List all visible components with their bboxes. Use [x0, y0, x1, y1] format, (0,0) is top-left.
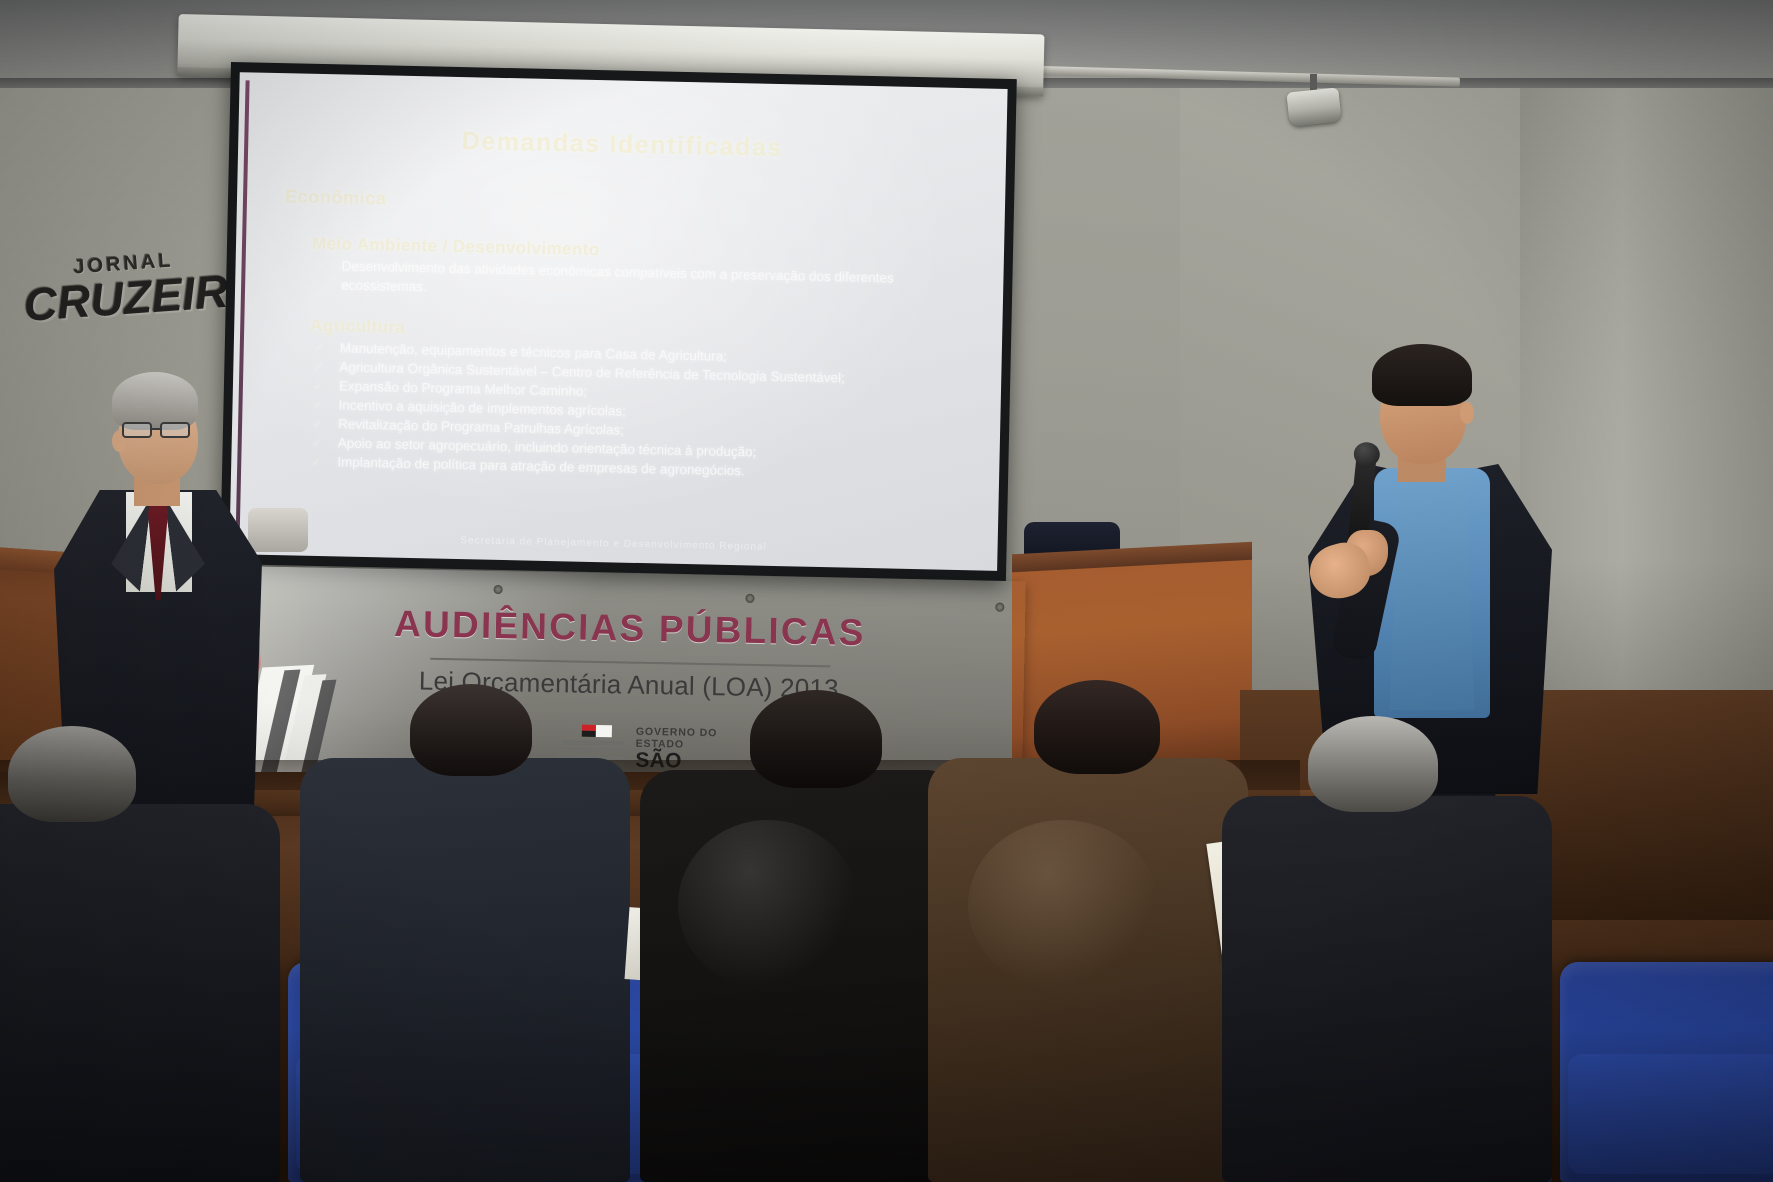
- slide-section-heading: Econômica: [285, 186, 971, 222]
- seat: [1560, 962, 1773, 1182]
- audience-member: [1222, 716, 1552, 1182]
- projection-screen: Demandas Identificadas Econômica Meio Am…: [220, 62, 1017, 581]
- audience-member: [300, 684, 630, 1182]
- check-icon: ✓: [314, 339, 324, 358]
- eyeglasses-icon: [122, 422, 198, 438]
- banner-grommet: [494, 585, 503, 594]
- projected-slide: Demandas Identificadas Econômica Meio Am…: [229, 72, 1007, 571]
- banner-grommet: [745, 594, 754, 603]
- audience-member: [0, 726, 290, 1182]
- auditorium-photo-scene: JORNAL CRUZEIRO Demandas Identificadas E…: [0, 0, 1773, 1182]
- banner-title: AUDIÊNCIAS PÚBLICAS: [235, 600, 1026, 657]
- check-icon: ✓: [312, 415, 322, 434]
- slide-title: Demandas Identificadas: [272, 123, 972, 167]
- slide-bullet-list-1: ✓ Manutenção, equipamentos e técnicos pa…: [307, 338, 968, 485]
- banner-grommet: [995, 603, 1004, 612]
- check-icon: ✓: [312, 396, 322, 415]
- check-icon: ✓: [311, 453, 321, 472]
- audience-member: [928, 680, 1248, 1182]
- audience-member: [640, 690, 960, 1182]
- check-icon: ✓: [313, 358, 323, 377]
- check-icon: ✓: [315, 257, 325, 276]
- slide-footer: Secretaria de Planejamento e Desenvolvim…: [230, 530, 998, 558]
- check-icon: ✓: [313, 377, 323, 396]
- check-icon: ✓: [311, 434, 321, 453]
- jornal-cruzeiro-wall-logo: JORNAL CRUZEIRO: [21, 244, 257, 360]
- spotlight-icon: [1286, 74, 1342, 130]
